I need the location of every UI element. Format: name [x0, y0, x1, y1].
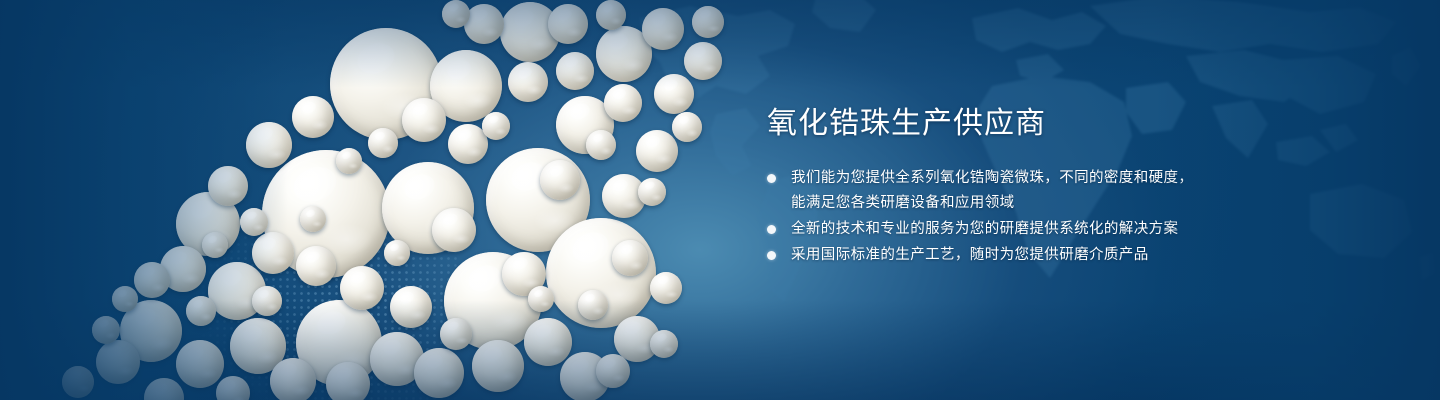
hero-banner: 氧化锆珠生产供应商 我们能为您提供全系列氧化锆陶瓷微珠，不同的密度和硬度， 能满… [0, 0, 1440, 400]
background-vignette [0, 0, 1440, 400]
